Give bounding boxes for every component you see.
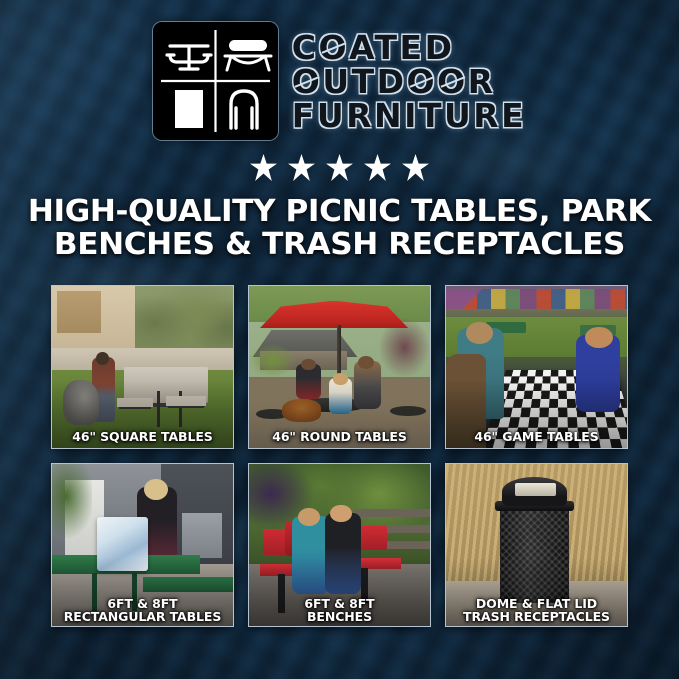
brand-lockup: COATED OUTDOOR FURNITURE: [0, 0, 679, 140]
product-banner: COATED OUTDOOR FURNITURE HIGH-QUALITY PI…: [0, 0, 679, 679]
brand-line-2: OUTDOOR: [292, 65, 496, 99]
star-icon: [326, 154, 353, 181]
tile-caption: DOME & FLAT LID TRASH RECEPTACLES: [446, 597, 627, 624]
photo-round-tables: [249, 286, 430, 448]
star-icon: [288, 154, 315, 181]
tile-caption: 6FT & 8FT RECTANGULAR TABLES: [52, 597, 233, 624]
star-icon: [364, 154, 391, 181]
category-tile-trash-receptacles[interactable]: DOME & FLAT LID TRASH RECEPTACLES: [446, 464, 627, 626]
tile-caption: 46" GAME TABLES: [446, 430, 627, 443]
tile-caption: 46" SQUARE TABLES: [52, 430, 233, 443]
category-tile-square-tables[interactable]: 46" SQUARE TABLES: [52, 286, 233, 448]
tile-caption: 46" ROUND TABLES: [249, 430, 430, 443]
category-tile-game-tables[interactable]: 46" GAME TABLES: [446, 286, 627, 448]
tile-caption: 6FT & 8FT BENCHES: [249, 597, 430, 624]
star-icon: [402, 154, 429, 181]
trash-receptacle-icon: [175, 90, 203, 128]
brand-line-3: FURNITURE: [292, 99, 526, 133]
brand-wordmark: COATED OUTDOOR FURNITURE: [292, 31, 526, 132]
category-tile-benches[interactable]: 6FT & 8FT BENCHES: [249, 464, 430, 626]
brand-line-1: COATED: [292, 31, 455, 65]
photo-game-tables: [446, 286, 627, 448]
product-category-grid: 46" SQUARE TABLES 46" ROUND TABLES: [52, 286, 627, 626]
four-quadrant-furniture-mark: [153, 22, 278, 140]
category-tile-rectangular-tables[interactable]: 6FT & 8FT RECTANGULAR TABLES: [52, 464, 233, 626]
star-icon: [250, 154, 277, 181]
banner-header: COATED OUTDOOR FURNITURE HIGH-QUALITY PI…: [0, 0, 679, 262]
category-tile-round-tables[interactable]: 46" ROUND TABLES: [249, 286, 430, 448]
headline: HIGH-QUALITY PICNIC TABLES, PARK BENCHES…: [0, 196, 679, 262]
photo-square-tables: [52, 286, 233, 448]
star-rating: [0, 154, 679, 181]
